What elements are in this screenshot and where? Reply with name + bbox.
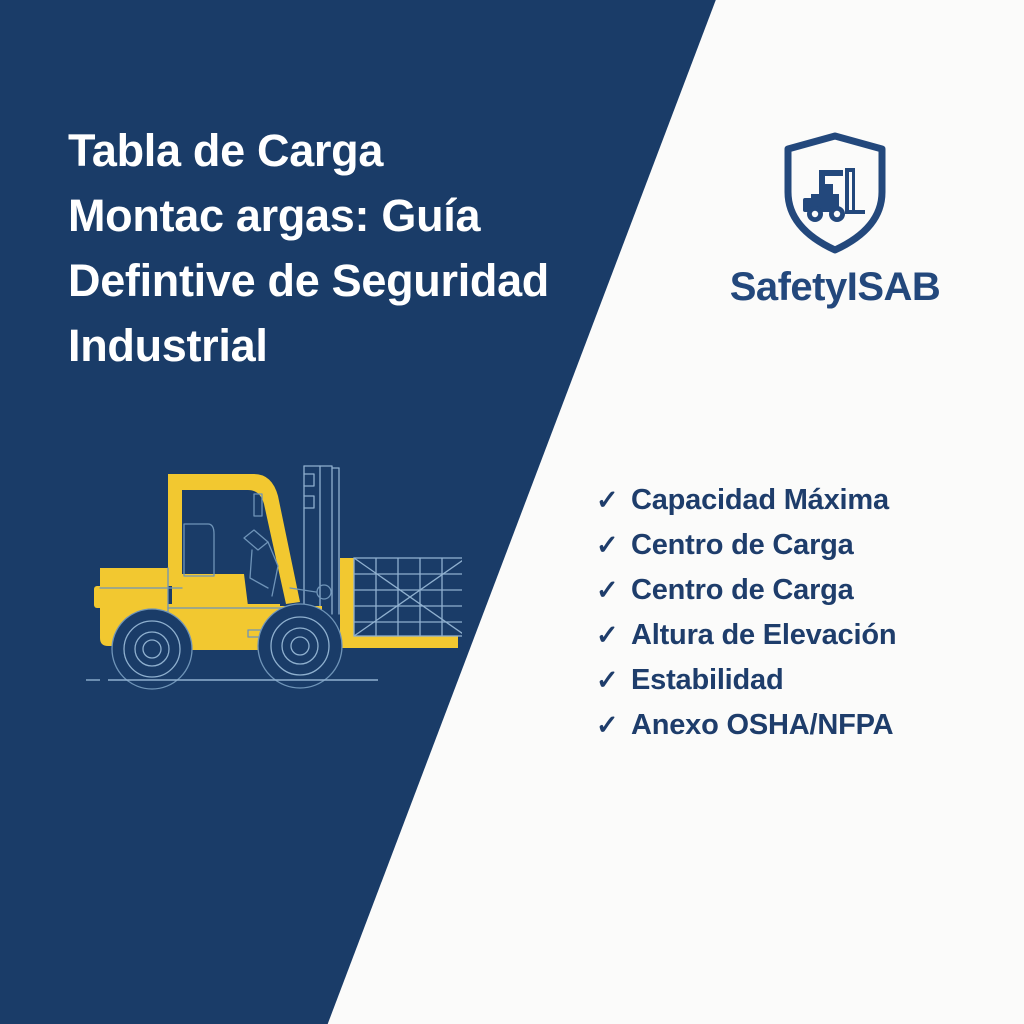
shield-forklift-icon bbox=[781, 132, 889, 254]
checklist-item-label: Centro de Carga bbox=[631, 531, 854, 560]
check-icon: ✓ bbox=[596, 712, 618, 739]
check-icon: ✓ bbox=[596, 577, 618, 604]
check-icon: ✓ bbox=[596, 667, 618, 694]
brand-logo: SafetyISAB bbox=[700, 132, 970, 308]
brand-wordmark: SafetyISAB bbox=[700, 266, 970, 308]
checklist-item-label: Anexo OSHA/NFPA bbox=[631, 711, 893, 740]
list-item: ✓ Centro de Carga bbox=[596, 576, 996, 621]
checklist-item-label: Capacidad Máxima bbox=[631, 486, 889, 515]
check-icon: ✓ bbox=[596, 622, 618, 649]
page-title: Tabla de Carga Montac argas: Guía Defint… bbox=[68, 118, 628, 378]
checklist-item-label: Centro de Carga bbox=[631, 576, 854, 605]
title-line-4: Industrial bbox=[68, 313, 628, 378]
forklift-blueprint-illustration bbox=[72, 446, 462, 708]
checklist-item-label: Estabilidad bbox=[631, 666, 784, 695]
list-item: ✓ Centro de Carga bbox=[596, 531, 996, 576]
poster-canvas: Tabla de Carga Montac argas: Guía Defint… bbox=[0, 0, 1024, 1024]
check-icon: ✓ bbox=[596, 487, 618, 514]
checklist-item-label: Altura de Elevación bbox=[631, 621, 896, 650]
list-item: ✓ Altura de Elevación bbox=[596, 621, 996, 666]
list-item: ✓ Anexo OSHA/NFPA bbox=[596, 711, 996, 756]
check-icon: ✓ bbox=[596, 532, 618, 559]
title-line-3: Defintive de Seguridad bbox=[68, 248, 628, 313]
list-item: ✓ Capacidad Máxima bbox=[596, 486, 996, 531]
list-item: ✓ Estabilidad bbox=[596, 666, 996, 711]
feature-checklist: ✓ Capacidad Máxima ✓ Centro de Carga ✓ C… bbox=[596, 486, 996, 756]
title-line-1: Tabla de Carga bbox=[68, 118, 628, 183]
title-line-2: Montac argas: Guía bbox=[68, 183, 628, 248]
